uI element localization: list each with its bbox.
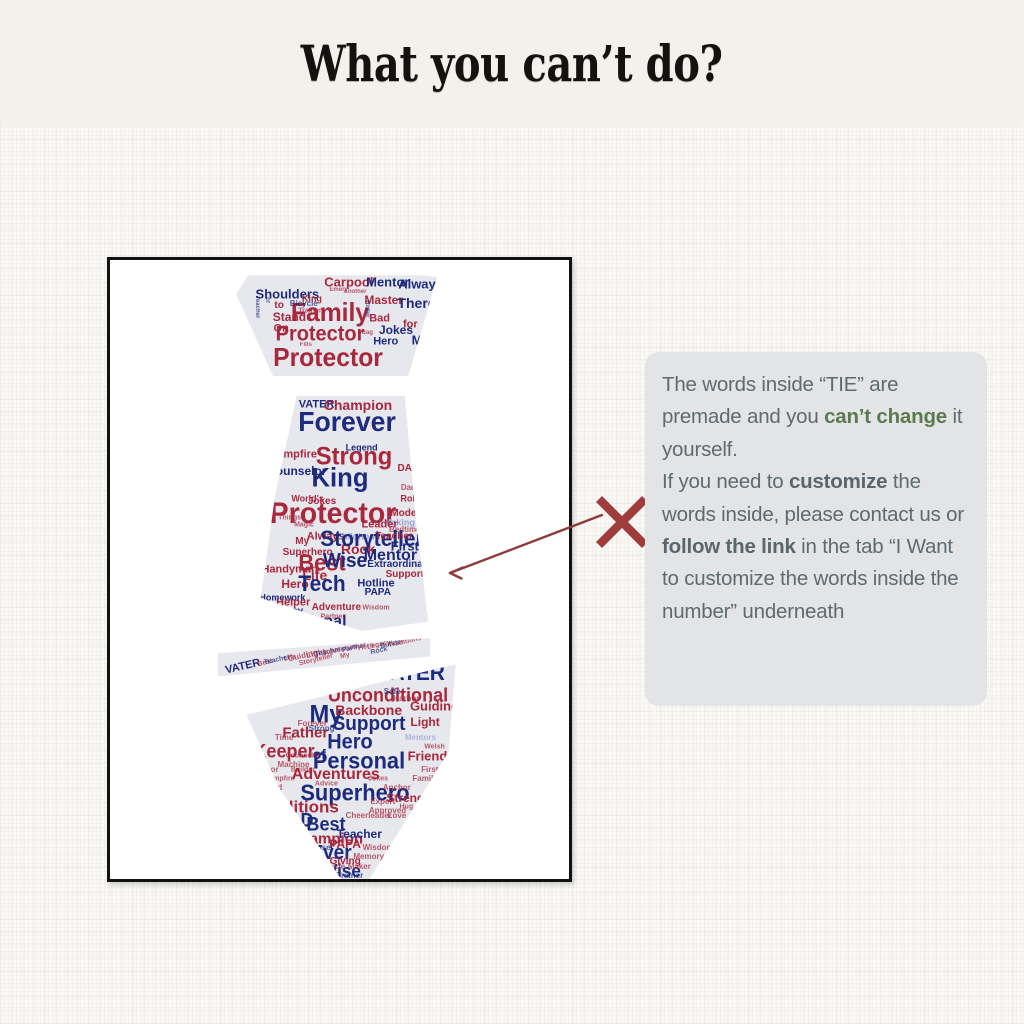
tie-slash-wordcloud: VATERLifeGuidingLightTeacherAdventurePar… (218, 638, 430, 678)
info-emphasis-bold: customize (789, 470, 887, 493)
word-cloud-word: of (264, 298, 270, 304)
word-cloud-word: Builder (291, 767, 315, 774)
word-cloud-word: Jokes (368, 776, 388, 783)
word-cloud-word: Wisdom (362, 604, 389, 611)
word-cloud-word: Cheerleader (346, 812, 392, 820)
word-cloud-word: Traditions (387, 638, 421, 649)
word-cloud-word: Family (412, 775, 437, 783)
word-cloud-word: King (312, 465, 369, 492)
word-cloud-word: Counsel (301, 844, 333, 852)
word-cloud-word: Partner (321, 613, 346, 620)
word-cloud-word: Magic (294, 522, 314, 529)
word-cloud-word: DAD (398, 464, 420, 474)
word-cloud-word: Hug (399, 803, 413, 810)
word-cloud-word: Wisdom (363, 844, 394, 852)
tie-upper-wordcloud: VATERChampionForeverCampfireCounselorLeg… (250, 396, 430, 631)
word-cloud-word: Legacy (269, 607, 303, 617)
page-title: What you can’t do? (301, 34, 723, 93)
word-cloud-word: On (274, 323, 289, 334)
word-cloud-word: Maker (348, 863, 371, 871)
word-cloud-word: Strong (309, 725, 335, 733)
info-panel-text: The words inside “TIE” are premade and y… (662, 369, 971, 628)
word-cloud-word: to (274, 301, 283, 311)
word-cloud-word: Memory (353, 853, 384, 861)
word-cloud-word: Expert (370, 798, 395, 806)
word-cloud-word: Fills (300, 342, 312, 348)
word-cloud-word: First (421, 766, 438, 774)
word-cloud-word: Best (261, 798, 278, 806)
word-cloud-word: Protector (273, 344, 383, 370)
word-cloud-word: Bag (362, 330, 373, 336)
info-panel: The words inside “TIE” are premade and y… (645, 352, 987, 706)
info-text-segment: If you need to (662, 470, 789, 493)
word-cloud-word: Dad (267, 784, 282, 792)
word-cloud-word: Mentors (405, 734, 436, 742)
word-cloud-word: Love (388, 812, 407, 820)
word-cloud-word: Mentor (252, 766, 279, 774)
word-cloud-word: Bicycle (317, 863, 345, 871)
word-cloud-word: Leader (362, 520, 398, 531)
pointer-arrow (430, 500, 610, 590)
word-cloud-word: Bicycle (290, 300, 318, 308)
tie-knot-wordcloud: CarpoolMentorAlwaysShouldersKingMasterTh… (232, 271, 437, 376)
word-cloud-word: Teacher (254, 295, 260, 318)
header-band: What you can’t do? (0, 0, 1024, 127)
word-cloud-word: Time (275, 734, 294, 742)
word-cloud-word: Anchor (383, 784, 411, 792)
word-cloud-word: My (340, 651, 351, 660)
word-cloud-word: Friend (408, 750, 448, 763)
info-emphasis-green: can’t change (824, 405, 947, 428)
word-cloud-word: Tech (298, 573, 345, 595)
word-cloud-word: Counselor (286, 753, 321, 760)
word-cloud-word: Campfire (264, 776, 294, 783)
word-cloud-word: Builder (265, 618, 293, 626)
word-cloud-word: Hero (373, 337, 398, 348)
word-cloud-word: Forever (298, 408, 396, 436)
info-emphasis-bold: follow the link (662, 535, 796, 558)
word-cloud-word: VATER (377, 662, 445, 684)
word-cloud-word: PAPA (365, 588, 391, 598)
word-cloud-word: There (397, 296, 435, 310)
word-cloud-word: Helper (276, 597, 310, 608)
word-cloud-word: Wise (323, 551, 367, 571)
word-cloud-word: Light (410, 716, 439, 728)
word-cloud-word: Campfire (269, 449, 317, 460)
word-cloud-word: Teacher (337, 828, 382, 840)
word-cloud-word: Me (412, 334, 430, 347)
word-cloud-word: Role (400, 495, 420, 504)
word-cloud-word: Advice (315, 780, 338, 787)
word-cloud-word: Trainer (337, 872, 364, 879)
word-cloud-word: Teacher (264, 654, 291, 667)
word-cloud-word: Things (278, 515, 301, 522)
word-cloud-word: Always (398, 277, 437, 290)
word-cloud-word: Roller (364, 300, 370, 317)
word-cloud-word: Welsh (424, 744, 445, 751)
tie-lower-wordcloud: VATERUnconditionalGuidingMyBackboneSuppo… (223, 655, 458, 879)
word-cloud-word: for (403, 319, 418, 330)
word-cloud-word: Emery (329, 287, 347, 293)
word-cloud-word: Harbor (393, 695, 419, 703)
word-cloud-word: Adventure (312, 603, 361, 613)
word-cloud-word: Dad (401, 484, 416, 492)
not-allowed-x-icon (593, 493, 651, 551)
